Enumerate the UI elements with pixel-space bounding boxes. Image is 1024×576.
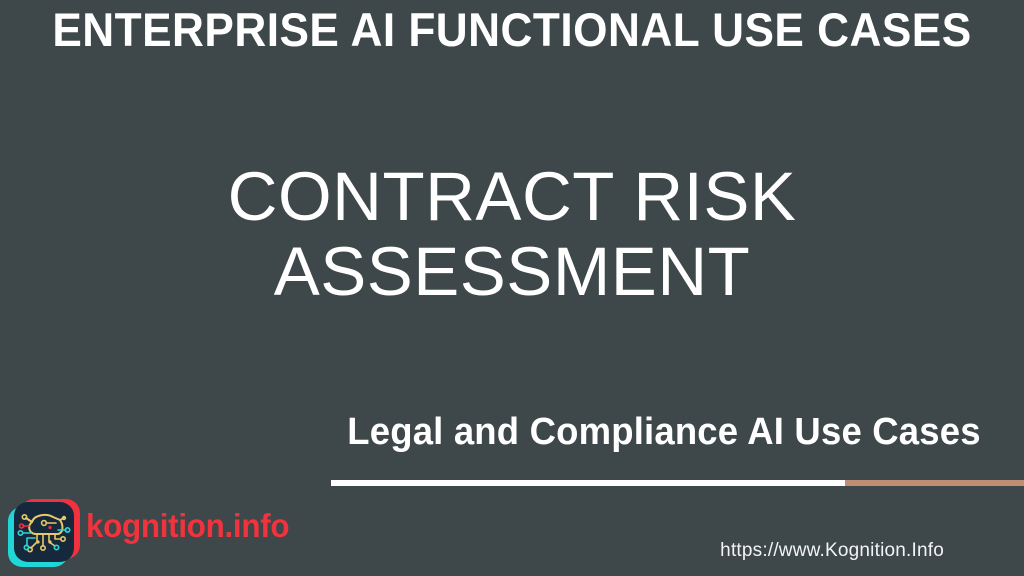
presentation-slide: ENTERPRISE AI FUNCTIONAL USE CASES CONTR… xyxy=(0,0,1024,576)
footer-url[interactable]: https://www.Kognition.Info xyxy=(720,540,944,562)
slide-main-title-line-2: ASSESSMENT xyxy=(0,235,1024,310)
slide-header-title: ENTERPRISE AI FUNCTIONAL USE CASES xyxy=(31,6,994,53)
divider-segment-accent xyxy=(845,480,1024,486)
divider-rule xyxy=(331,480,1024,486)
divider-segment-light xyxy=(331,480,845,486)
brand-wordmark: kognition.info xyxy=(86,509,289,542)
logo-tile xyxy=(14,502,74,562)
slide-main-title-line-1: CONTRACT RISK xyxy=(0,160,1024,235)
slide-main-title: CONTRACT RISK ASSESSMENT xyxy=(0,160,1024,309)
slide-subtitle: Legal and Compliance AI Use Cases xyxy=(343,412,984,454)
brand-logo-lockup[interactable]: kognition.info xyxy=(8,497,248,569)
circuit-brain-icon xyxy=(8,497,82,569)
